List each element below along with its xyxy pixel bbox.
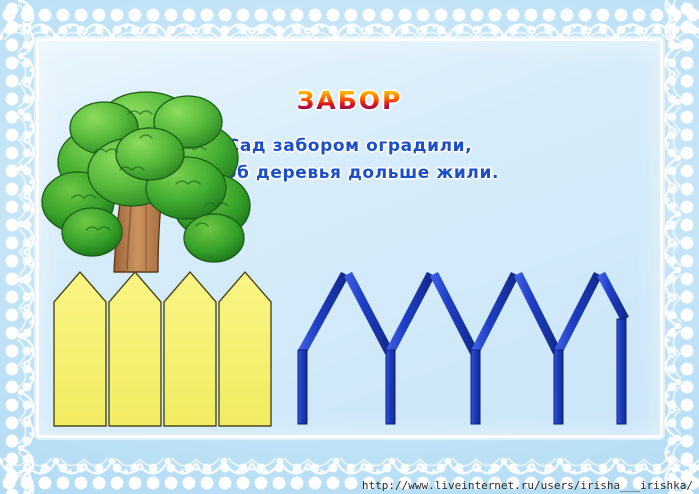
blue-zigzag-fence-icon bbox=[286, 262, 631, 430]
lace-floral-bottom-icon bbox=[0, 454, 699, 480]
yellow-picket-fence-icon bbox=[52, 258, 292, 430]
lace-floral-right-icon bbox=[659, 0, 685, 494]
watermark-url: http://www.liveinternet.ru/users/irisha_… bbox=[362, 479, 693, 492]
flashcard-page: ЗАБОР Сад забором оградили, Чтоб деревья… bbox=[0, 0, 699, 494]
lace-floral-top-icon bbox=[0, 18, 699, 44]
